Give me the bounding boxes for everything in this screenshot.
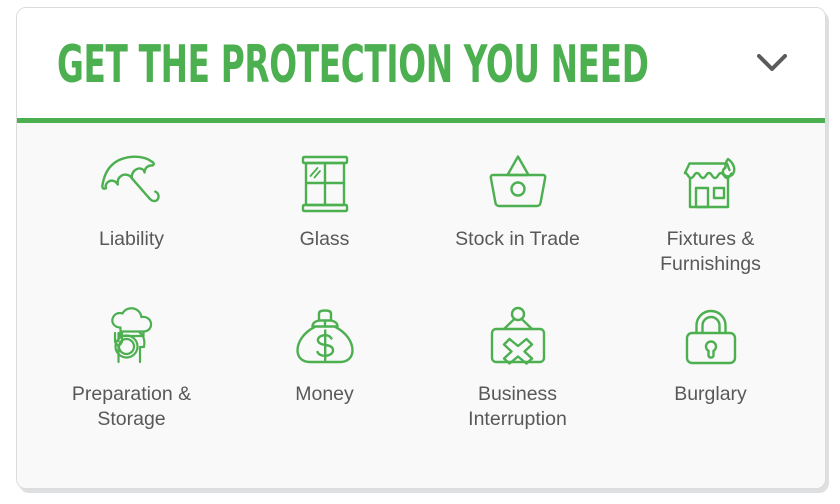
coverage-label: Burglary: [674, 382, 747, 407]
coverage-label: Liability: [99, 227, 164, 252]
coverage-label: Stock in Trade: [455, 227, 580, 252]
coverage-item-liability[interactable]: Liability: [35, 145, 228, 300]
accordion-header-toggle[interactable]: GET THE PROTECTION YOU NEED: [17, 8, 825, 118]
coverage-item-glass[interactable]: Glass: [228, 145, 421, 300]
page-title: GET THE PROTECTION YOU NEED: [57, 38, 649, 92]
coverage-label: Preparation & Storage: [72, 382, 191, 432]
coverage-item-business-interruption[interactable]: Business Interruption: [421, 300, 614, 455]
coverage-item-fixtures-furnishings[interactable]: Fixtures & Furnishings: [614, 145, 807, 300]
umbrella-icon: [93, 145, 171, 223]
coverage-label: Glass: [300, 227, 350, 252]
coverage-label: Fixtures & Furnishings: [660, 227, 761, 277]
protection-accordion-card: GET THE PROTECTION YOU NEED: [16, 7, 826, 489]
coverage-label: Business Interruption: [468, 382, 567, 432]
coverage-item-preparation-storage[interactable]: Preparation & Storage: [35, 300, 228, 455]
padlock-icon: [672, 300, 750, 378]
coverage-item-stock-in-trade[interactable]: Stock in Trade: [421, 145, 614, 300]
chef-hat-cutlery-icon: [93, 300, 171, 378]
accordion-body: Liability: [17, 123, 825, 488]
closed-sign-icon: [479, 300, 557, 378]
coverage-label: Money: [295, 382, 354, 407]
shopping-basket-icon: [479, 145, 557, 223]
coverage-item-burglary[interactable]: Burglary: [614, 300, 807, 455]
storefront-icon: [672, 145, 750, 223]
money-bag-icon: [286, 300, 364, 378]
chevron-down-icon[interactable]: [755, 46, 789, 80]
coverage-item-money[interactable]: Money: [228, 300, 421, 455]
window-icon: [286, 145, 364, 223]
coverage-grid: Liability: [17, 145, 825, 455]
